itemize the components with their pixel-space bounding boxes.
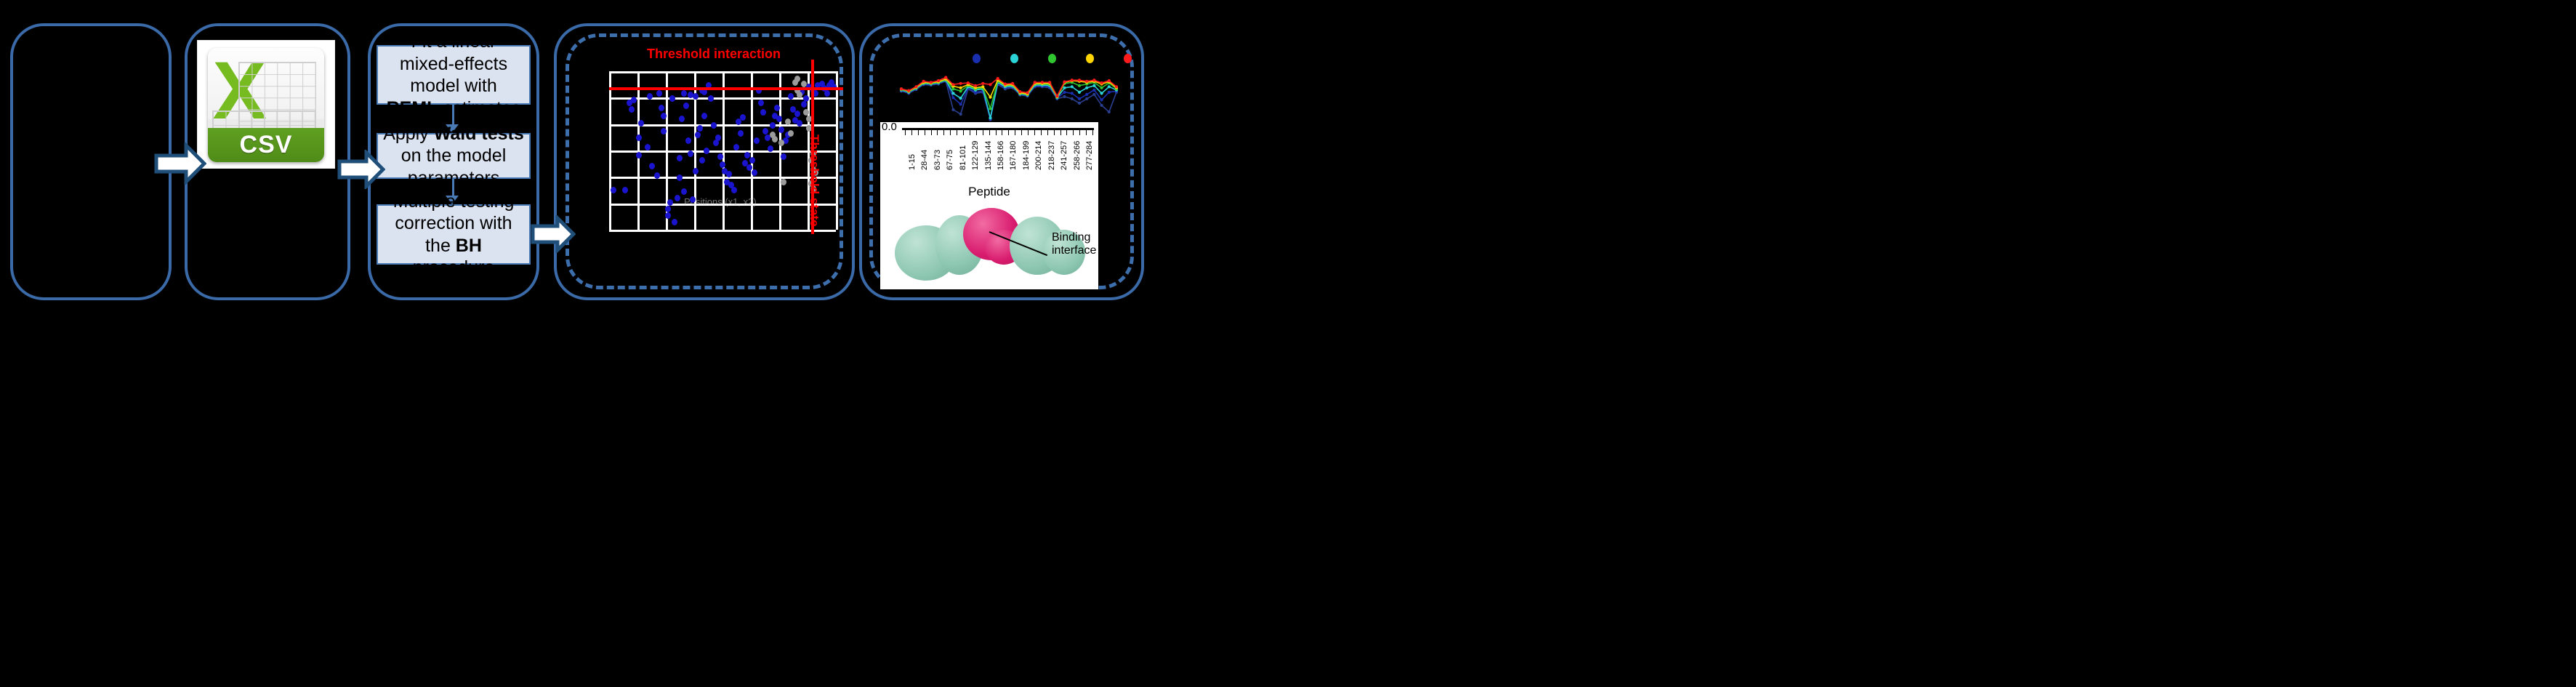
arrow-input-to-csv [154, 142, 206, 185]
peptide-axis-tick [1086, 130, 1087, 135]
peptide-axis-tick [957, 130, 957, 135]
peptide-series-marker [1100, 92, 1103, 95]
peptide-series-marker [1092, 93, 1095, 96]
peptide-series-marker [944, 76, 947, 79]
csv-label-band: CSV [208, 128, 324, 162]
scatter-point [778, 126, 784, 133]
scatter-point [677, 174, 683, 181]
peptide-series-marker [959, 113, 962, 116]
scatter-point [778, 140, 784, 146]
peptide-series-marker [1085, 87, 1088, 89]
scatter-point [611, 187, 616, 193]
step-box-wald[interactable]: Apply Wald tests on the model parameters [377, 133, 531, 179]
scatter-point [622, 187, 628, 193]
peptide-tick-label: 81-101 [959, 145, 967, 170]
peptide-series-marker [1108, 91, 1111, 94]
peptide-series-marker [951, 96, 954, 99]
csv-file-icon: X CSV [198, 41, 334, 168]
peptide-tick-label: 1-15 [908, 154, 917, 170]
peptide-axis-tick [976, 130, 977, 135]
peptide-axis-tick [937, 130, 938, 135]
peptide-series-marker [1034, 81, 1037, 84]
peptide-axis-tick [1021, 130, 1022, 135]
peptide-axis-tick [943, 130, 944, 135]
peptide-series-marker [951, 87, 954, 90]
scatter-point [681, 188, 687, 195]
scatter-point [776, 116, 782, 122]
scatter-point [824, 90, 830, 97]
peptide-legend-dot [1048, 54, 1056, 63]
peptide-tick-label: 184-199 [1022, 141, 1031, 170]
scatter-point [661, 113, 667, 119]
scatter-point [768, 145, 773, 152]
step2-bold: Wald tests [434, 124, 524, 144]
scatter-point [675, 195, 680, 201]
scatter-point [762, 128, 768, 134]
scatter-point [760, 109, 766, 116]
scatter-point [801, 101, 807, 108]
peptide-legend-dot [973, 54, 981, 63]
peptide-series-marker [1011, 82, 1014, 85]
scatter-point [733, 144, 739, 150]
peptide-series-marker [1085, 93, 1088, 96]
scatter-point [731, 187, 737, 193]
peptide-axis-tick [1073, 130, 1074, 135]
peptide-series-marker [1092, 79, 1095, 81]
peptide-tick-label: 67-75 [946, 150, 954, 170]
peptide-series-marker [974, 84, 977, 87]
peptide-series-marker [981, 82, 984, 85]
peptide-axis-tick [1002, 130, 1002, 135]
scatter-point [669, 95, 675, 102]
panel-input-stage [10, 23, 172, 300]
peptide-series-marker [1071, 85, 1074, 88]
scatter-gridline-horizontal [609, 150, 836, 153]
peptide-series-marker [1063, 87, 1066, 89]
peptide-series-marker [1078, 91, 1081, 94]
peptide-axis-tick [918, 130, 919, 135]
peptide-series-marker [1071, 92, 1074, 95]
peptide-series-marker [981, 85, 984, 88]
scatter-gridline-vertical [836, 71, 838, 230]
scatter-point [685, 137, 691, 144]
peptide-series-marker [967, 81, 970, 84]
arrow-csv-to-model [337, 150, 385, 189]
scatter-point [665, 212, 671, 219]
peptide-series-marker [1071, 79, 1074, 81]
peptide-series-marker [1108, 111, 1111, 113]
peptide-series-marker [997, 77, 999, 80]
csv-icon-body: X CSV [208, 48, 324, 162]
peptide-axis-tick [970, 130, 970, 135]
scatter-point [738, 130, 744, 137]
peptide-axis-tick [1047, 130, 1048, 135]
scatter-point [656, 90, 662, 97]
scatter-point [645, 144, 651, 150]
peptide-tick-label: 63-73 [933, 150, 942, 170]
scatter-point [715, 134, 721, 141]
peptide-tick-label: 135-144 [984, 141, 993, 170]
peptide-series-marker [959, 82, 962, 85]
csv-label-text: CSV [240, 131, 293, 159]
peptide-axis-tick [983, 130, 983, 135]
step3-bold: BH [456, 236, 482, 256]
peptide-legend-dot [1086, 54, 1094, 63]
scatter-point [672, 219, 677, 225]
peptide-axis-tick [1008, 130, 1009, 135]
peptide-series-marker [959, 103, 962, 105]
peptide-series-marker [1018, 90, 1021, 93]
peptide-tick-label: 200-214 [1034, 141, 1043, 170]
peptide-series-marker [989, 116, 991, 119]
peptide-axis-tick [1054, 130, 1055, 135]
scatter-point [708, 95, 714, 102]
scatter-point [677, 155, 683, 161]
scatter-point [788, 130, 794, 137]
peptide-axis-tick [931, 130, 932, 135]
peptide-axis-tick [1028, 130, 1029, 135]
scatter-point [636, 134, 642, 141]
peptide-tick-label: 241-257 [1060, 141, 1068, 170]
peptide-series-marker [1108, 79, 1111, 82]
peptide-axis-tick [1066, 130, 1067, 135]
scatter-point [695, 132, 701, 138]
peptide-line-svg [898, 71, 1125, 122]
peptide-series-marker [1078, 79, 1081, 81]
peptide-series-marker [1026, 92, 1029, 95]
peptide-series-marker [937, 79, 940, 82]
peptide-series-marker [1048, 81, 1051, 84]
threshold-interaction-label: Threshold interaction [647, 47, 781, 62]
peptide-series-marker [1092, 89, 1095, 92]
peptide-axis-card: 0.0 1-1528-4463-7367-7581-101122-129135-… [880, 122, 1098, 289]
peptide-axis-tick [905, 130, 906, 135]
peptide-tick-label: 218-237 [1047, 141, 1056, 170]
scatter-point [711, 122, 717, 129]
peptide-axis-title: Peptide [880, 185, 1098, 199]
peptide-tick-label: 28-44 [920, 150, 929, 170]
scatter-gridline-horizontal [609, 71, 836, 73]
peptide-series-marker [1115, 85, 1118, 88]
peptide-axis-tick [1041, 130, 1042, 135]
scatter-point [665, 206, 671, 212]
scatter-point [693, 93, 699, 100]
peptide-series-marker [1085, 80, 1088, 83]
step1-suffix: estimates [438, 98, 520, 118]
scatter-point [697, 125, 703, 132]
peptide-axis-tick [950, 130, 951, 135]
y-axis-zero-tick: 0.0 [882, 122, 897, 133]
peptide-series-marker [1100, 87, 1103, 89]
peptide-series-marker [989, 83, 991, 86]
peptide-series-marker [1004, 82, 1007, 85]
scatter-point [693, 168, 699, 174]
scatter-gridline-horizontal [609, 97, 836, 100]
peptide-series-marker [1085, 97, 1088, 100]
scatter-point [740, 114, 746, 121]
scatter-point [649, 163, 655, 169]
binding-interface-annotation: Binding interface [1052, 231, 1096, 258]
peptide-tick-label: 277-284 [1085, 141, 1094, 170]
scatter-point [774, 105, 780, 111]
scatter-plot-area: Positions (x1, x2)Threshold state [609, 71, 836, 230]
peptide-axis-tick [1079, 130, 1080, 135]
peptide-axis-tick [1092, 130, 1093, 135]
peptide-axis-tick [925, 130, 925, 135]
peptide-series-marker [1078, 102, 1081, 105]
scatter-point [754, 137, 760, 144]
step3-suffix: procedure [413, 257, 495, 278]
threshold-interaction-line [609, 87, 843, 90]
peptide-series-marker [1063, 91, 1066, 94]
step1-bold: REML [387, 98, 438, 118]
scatter-point [683, 103, 689, 109]
threshold-state-label: Threshold state [807, 134, 821, 227]
binding-interface-line1: Binding [1052, 231, 1096, 244]
peptide-legend-dot [1010, 54, 1018, 63]
peptide-series-marker [1055, 95, 1058, 97]
peptide-series-marker [1078, 97, 1081, 100]
scatter-point [788, 93, 794, 100]
scatter-point [752, 169, 757, 176]
peptide-axis-tick [911, 130, 912, 135]
scatter-point [636, 152, 642, 158]
peptide-series-marker [914, 85, 917, 88]
scatter-point [794, 76, 800, 82]
binding-interface-line2: interface [1052, 244, 1096, 257]
peptide-series-marker [1100, 104, 1103, 107]
scatter-figure: Threshold interaction Positions (x1, x2)… [603, 64, 843, 238]
scatter-point [688, 150, 693, 157]
scatter-point [681, 90, 687, 97]
peptide-tick-label: 258-266 [1073, 141, 1082, 170]
peptide-series-marker [1041, 81, 1044, 84]
peptide-series-marker [1063, 95, 1066, 98]
peptide-series-marker [1100, 81, 1103, 84]
scatter-point [749, 157, 755, 164]
peptide-series-marker [1100, 98, 1103, 101]
peptide-legend-dot [1124, 54, 1132, 63]
scatter-point [679, 116, 685, 122]
scatter-point [701, 113, 707, 119]
peptide-series-marker [959, 97, 962, 100]
scatter-point [781, 153, 786, 160]
peptide-series-marker [1063, 80, 1066, 83]
scatter-point [659, 105, 664, 111]
peptide-axis-tick [1060, 130, 1061, 135]
peptide-axis-tick [989, 130, 990, 135]
peptide-series-marker [959, 89, 962, 92]
peptide-series-marker [1078, 84, 1081, 87]
peptide-series-marker [989, 107, 991, 110]
scatter-point [758, 100, 764, 106]
scatter-point [629, 106, 635, 113]
peptide-axis-tick [963, 130, 964, 135]
peptide-series-marker [907, 89, 910, 92]
scatter-point [631, 97, 637, 103]
peptide-tick-label: 167-180 [1009, 141, 1018, 170]
scatter-gridline-horizontal [609, 177, 836, 179]
scatter-point [772, 136, 778, 142]
step1-prefix: Fit a linear mixed-effects model with [400, 31, 507, 96]
peptide-series-marker [1092, 84, 1095, 87]
peptide-series-marker [989, 96, 991, 99]
step3-prefix: Multiple testing correction with the [393, 191, 515, 256]
peptide-axis-tick [996, 130, 997, 135]
peptide-tick-label: 122-129 [971, 141, 980, 170]
peptide-series-marker [951, 83, 954, 86]
scatter-point [699, 157, 705, 164]
peptide-series-marker [959, 87, 962, 89]
connector-step1-step2 [452, 105, 454, 124]
step2-prefix: Apply [383, 124, 433, 144]
peptide-series-marker [900, 87, 903, 90]
step-box-reml[interactable]: Fit a linear mixed-effects model with RE… [377, 45, 531, 105]
arrow-stats-to-results [531, 215, 576, 253]
peptide-line-chart [898, 71, 1125, 122]
peptide-series-marker [922, 80, 925, 83]
scatter-point [770, 122, 776, 129]
scatter-gridline-horizontal [609, 230, 836, 232]
peptide-series-marker [951, 108, 954, 111]
peptide-series-marker [1071, 97, 1074, 100]
peptide-axis-tick [1034, 130, 1035, 135]
peptide-tick-label: 158-166 [997, 141, 1005, 170]
peptide-series-marker [1108, 85, 1111, 88]
scatter-point [654, 172, 660, 179]
peptide-series-marker [951, 92, 954, 95]
scatter-point [794, 111, 800, 117]
step-box-bh[interactable]: Multiple testing correction with the BH … [377, 204, 531, 265]
scatter-point [781, 179, 786, 185]
scatter-point [704, 148, 709, 154]
peptide-series-marker [930, 81, 933, 84]
peptide-axis-tick [1015, 130, 1015, 135]
